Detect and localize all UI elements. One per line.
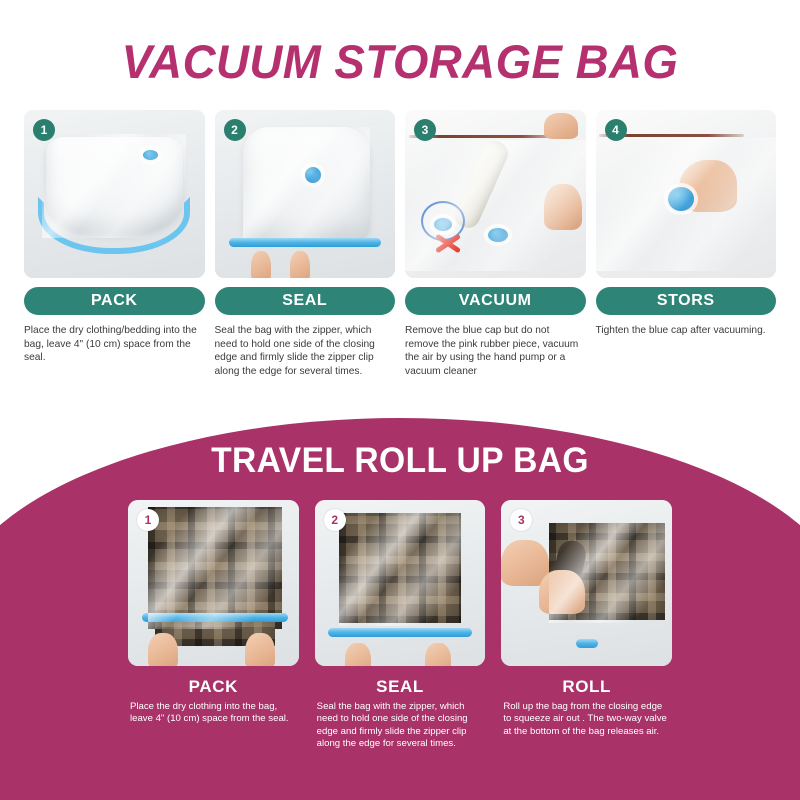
plaid-clothing-illustration [339, 513, 462, 623]
step-description-stors: Tighten the blue cap after vacuuming. [596, 324, 777, 338]
step-badge-2: 2 [224, 119, 246, 141]
hand-left [251, 251, 271, 278]
step-description-seal: Seal the bag with the zipper, which need… [215, 324, 396, 378]
blue-valve-icon [488, 228, 508, 242]
vacuum-steps-row: 1 PACK Place the dry clothing/bedding in… [0, 90, 800, 378]
step-1-photo: 1 [24, 110, 205, 278]
travel-step-badge-1: 1 [137, 509, 159, 531]
step-card-seal: 2 SEAL Seal the bag with the zipper, whi… [215, 110, 396, 378]
blue-valve-icon-marked [434, 218, 452, 231]
travel-step-description-pack: Place the dry clothing into the bag, lea… [128, 701, 299, 726]
travel-step-3-photo: 3 [501, 500, 672, 666]
step-description-vacuum: Remove the blue cap but do not remove th… [405, 324, 586, 378]
step-3-photo: 3 [405, 110, 586, 278]
travel-step-1-photo: 1 [128, 500, 299, 666]
blue-zipper-illustration [229, 238, 381, 247]
step-4-photo: 4 [596, 110, 777, 278]
travel-step-label-seal: SEAL [315, 677, 486, 697]
hand-right [290, 251, 310, 278]
step-card-vacuum: 3 VACUUM Remove the blue cap but do not … [405, 110, 586, 378]
step-label-pack: PACK [24, 287, 205, 315]
travel-step-card-roll: 3 ROLL Roll up the bag from the closing … [501, 500, 672, 751]
red-x-icon [434, 231, 462, 253]
step-card-stors: 4 STORS Tighten the blue cap after vacuu… [596, 110, 777, 378]
travel-step-description-seal: Seal the bag with the zipper, which need… [315, 701, 486, 751]
hand-right [425, 643, 451, 666]
travel-step-label-roll: ROLL [501, 677, 672, 697]
blue-zipper-illustration [576, 639, 598, 648]
hand-bottom [544, 184, 582, 230]
step-label-vacuum: VACUUM [405, 287, 586, 315]
white-vacuum-bag-illustration [243, 127, 369, 241]
page-title: VACUUM STORAGE BAG [12, 34, 788, 90]
vacuum-storage-bag-section: VACUUM STORAGE BAG 1 PACK Place the dry … [0, 0, 800, 378]
blue-valve-icon [305, 167, 321, 183]
travel-step-card-seal: 2 SEAL Seal the bag with the zipper, whi… [315, 500, 486, 751]
hand-right [245, 633, 275, 666]
travel-step-label-pack: PACK [128, 677, 299, 697]
travel-step-badge-2: 2 [324, 509, 346, 531]
plaid-clothing-illustration [148, 507, 281, 630]
step-badge-4: 4 [605, 119, 627, 141]
hand-left [148, 633, 178, 666]
hand-top [544, 113, 578, 139]
travel-step-2-photo: 2 [315, 500, 486, 666]
blue-zipper-illustration [328, 628, 471, 637]
hand-right-rolling [539, 570, 585, 614]
section-title-travel-roll-up: TRAVEL ROLL UP BAG [16, 440, 784, 482]
travel-step-description-roll: Roll up the bag from the closing edge to… [501, 701, 672, 738]
step-label-seal: SEAL [215, 287, 396, 315]
step-2-photo: 2 [215, 110, 396, 278]
blue-zipper-illustration [142, 613, 289, 622]
step-label-stors: STORS [596, 287, 777, 315]
travel-steps-row: 1 PACK Place the dry clothing into the b… [0, 482, 800, 751]
step-badge-1: 1 [33, 119, 55, 141]
travel-roll-up-bag-section: TRAVEL ROLL UP BAG 1 PACK Place the dry … [0, 418, 800, 800]
step-badge-3: 3 [414, 119, 436, 141]
step-card-pack: 1 PACK Place the dry clothing/bedding in… [24, 110, 205, 378]
blue-cap-icon [668, 187, 694, 211]
travel-step-card-pack: 1 PACK Place the dry clothing into the b… [128, 500, 299, 751]
step-description-pack: Place the dry clothing/bedding into the … [24, 324, 205, 365]
blue-valve-icon [143, 150, 158, 160]
